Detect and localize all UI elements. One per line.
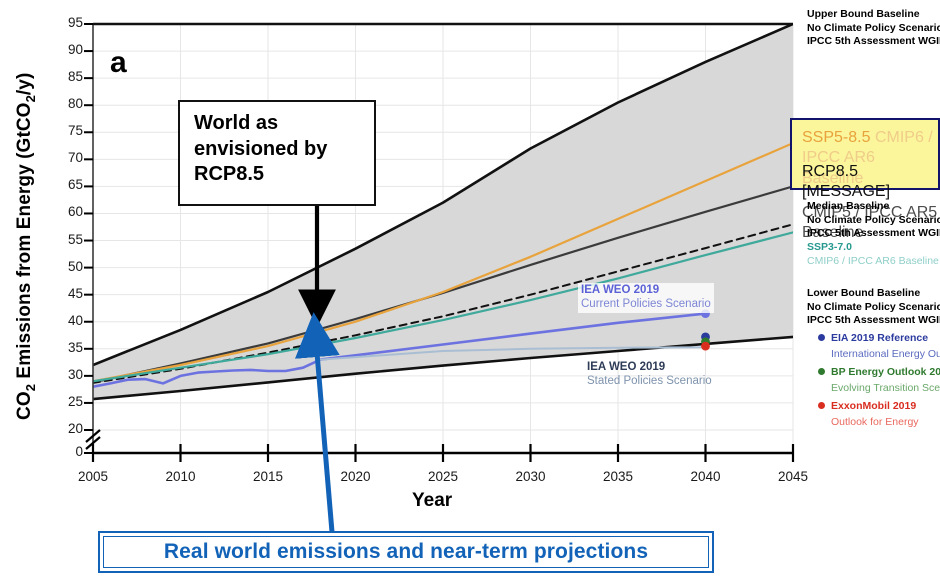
legend-ssp3-sub: CMIP6 / IPCC AR6 Baseline [807, 255, 940, 269]
label-iea-stated-policies-subtitle: Stated Policies Scenario [587, 375, 712, 389]
y-axis-ticks [84, 24, 93, 453]
y-tick-label-70: 70 [45, 150, 83, 165]
y-tick-label-50: 50 [45, 259, 83, 274]
x-tick-label-2040: 2040 [680, 469, 732, 484]
legend-upper-bound-l1: Upper Bound Baseline [807, 8, 940, 22]
legend-bp-name: BP Energy Outlook 2019 [831, 366, 940, 378]
x-tick-label-2025: 2025 [417, 469, 469, 484]
legend-rcp85-name: RCP8.5 [MESSAGE] [802, 163, 890, 200]
legend-eia-sub: International Energy Outlook [831, 348, 940, 360]
x-tick-label-2020: 2020 [330, 469, 382, 484]
legend-upper-bound-l2: No Climate Policy Scenarios [807, 22, 940, 36]
y-tick-label-20: 20 [45, 421, 83, 436]
y-tick-label-35: 35 [45, 340, 83, 355]
y-tick-label-45: 45 [45, 286, 83, 301]
chart-canvas [0, 0, 940, 584]
y-tick-label-65: 65 [45, 177, 83, 192]
bottom-banner: Real world emissions and near-term proje… [98, 531, 714, 573]
legend-lower-bound-l3: IPCC 5th Assessment WGIII [807, 314, 940, 328]
legend-median-l1: Median Baseline [807, 200, 940, 214]
y-axis-label: CO2 Emissions from Energy (GtCO2/y) [14, 73, 38, 420]
label-iea-stated-policies: IEA WEO 2019 Stated Policies Scenario [584, 360, 715, 390]
legend-upper-bound-l3: IPCC 5th Assessment WGIII [807, 35, 940, 49]
legend-marker-bp: BP Energy Outlook 2019 Evolving Transiti… [818, 363, 940, 394]
legend-ssp3-name: SSP3-7.0 [807, 241, 940, 255]
bottom-banner-text: Real world emissions and near-term proje… [164, 540, 648, 564]
legend-median-baseline: Median Baseline No Climate Policy Scenar… [807, 200, 940, 268]
label-iea-stated-policies-title: IEA WEO 2019 [587, 361, 712, 375]
y-tick-label-90: 90 [45, 42, 83, 57]
y-tick-label-55: 55 [45, 232, 83, 247]
y-tick-label-95: 95 [45, 15, 83, 30]
callout-line-2: envisioned by [194, 137, 362, 163]
x-tick-label-2035: 2035 [592, 469, 644, 484]
x-tick-label-2015: 2015 [242, 469, 294, 484]
legend-lower-bound-l1: Lower Bound Baseline [807, 287, 940, 301]
label-iea-current-policies: IEA WEO 2019 Current Policies Scenario [578, 283, 714, 313]
x-tick-label-2010: 2010 [155, 469, 207, 484]
figure-panel-a: CO2 Emissions from Energy (GtCO2/y) Year… [0, 0, 940, 584]
legend-lower-bound-baseline: Lower Bound Baseline No Climate Policy S… [807, 287, 940, 328]
exxonmobil-dot-icon [818, 402, 825, 409]
panel-letter: a [110, 48, 127, 78]
label-iea-current-policies-title: IEA WEO 2019 [581, 284, 711, 298]
legend-ssp5-name: SSP5-8.5 [802, 129, 870, 146]
x-tick-label-2005: 2005 [67, 469, 119, 484]
y-tick-label-40: 40 [45, 313, 83, 328]
legend-marker-eia: EIA 2019 Reference International Energy … [818, 329, 940, 360]
legend-median-l3: IPCC 5th Assessment WGIII [807, 227, 940, 241]
legend-highlight-box: SSP5-8.5 CMIP6 / IPCC AR6 Baseline RCP8.… [790, 118, 940, 190]
legend-bp-sub: Evolving Transition Scenario [831, 382, 940, 394]
callout-line-3: RCP8.5 [194, 162, 362, 188]
x-axis-label: Year [412, 490, 452, 512]
label-iea-current-policies-subtitle: Current Policies Scenario [581, 298, 711, 312]
y-tick-label-75: 75 [45, 123, 83, 138]
x-tick-label-2045: 2045 [767, 469, 819, 484]
x-tick-label-2030: 2030 [505, 469, 557, 484]
y-tick-label-0: 0 [45, 444, 83, 459]
legend-median-l2: No Climate Policy Scenarios [807, 214, 940, 228]
y-tick-label-25: 25 [45, 394, 83, 409]
y-tick-label-30: 30 [45, 367, 83, 382]
callout-world-as-envisioned: World as envisioned by RCP8.5 [178, 100, 376, 206]
y-tick-label-85: 85 [45, 69, 83, 84]
y-tick-label-60: 60 [45, 204, 83, 219]
bp-dot-icon [818, 368, 825, 375]
legend-eia-name: EIA 2019 Reference [831, 332, 928, 344]
callout-line-1: World as [194, 111, 362, 137]
legend-upper-bound-baseline: Upper Bound Baseline No Climate Policy S… [807, 8, 940, 49]
eia-dot-icon [818, 334, 825, 341]
legend-marker-exxonmobil: ExxonMobil 2019 Outlook for Energy [818, 397, 919, 428]
point-exxonmobil-2019 [701, 342, 710, 351]
legend-lower-bound-l2: No Climate Policy Scenarios [807, 301, 940, 315]
legend-exxonmobil-name: ExxonMobil 2019 [831, 400, 916, 412]
legend-exxonmobil-sub: Outlook for Energy [831, 416, 919, 428]
y-tick-label-80: 80 [45, 96, 83, 111]
